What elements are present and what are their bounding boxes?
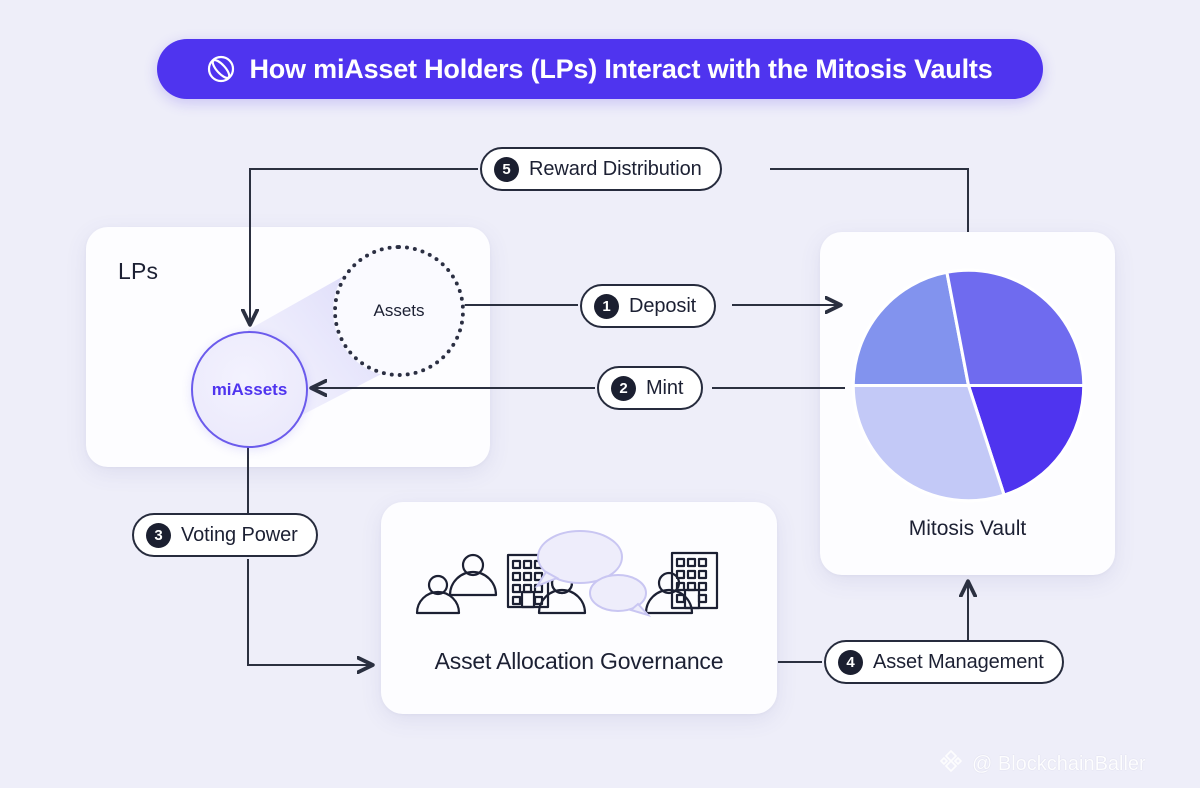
page-title-banner: How miAsset Holders (LPs) Interact with … <box>157 39 1043 99</box>
step-label: Mint <box>646 377 683 400</box>
step-pill-reward-distribution[interactable]: 5 Reward Distribution <box>480 147 722 191</box>
speech-bubble-icon <box>590 575 648 615</box>
step-label: Deposit <box>629 295 696 318</box>
step-label: Asset Management <box>873 651 1044 674</box>
miassets-node[interactable]: miAssets <box>191 331 308 448</box>
assets-node-label: Assets <box>373 301 424 321</box>
diagram-canvas: How miAsset Holders (LPs) Interact with … <box>0 0 1200 788</box>
mitosis-logo-icon <box>207 55 235 83</box>
vault-pie-chart <box>845 262 1092 509</box>
step-number-badge: 1 <box>594 294 619 319</box>
step-number-badge: 4 <box>838 650 863 675</box>
lps-card-label: LPs <box>118 258 158 285</box>
step-number-badge: 2 <box>611 376 636 401</box>
wire-voting-out <box>248 559 372 665</box>
step-label: Voting Power <box>181 524 298 547</box>
step-pill-deposit[interactable]: 1 Deposit <box>580 284 716 328</box>
pie-slice <box>947 270 1084 385</box>
step-number-badge: 3 <box>146 523 171 548</box>
page-title: How miAsset Holders (LPs) Interact with … <box>249 54 992 85</box>
step-pill-mint[interactable]: 2 Mint <box>597 366 703 410</box>
vault-card-label: Mitosis Vault <box>820 517 1115 541</box>
step-pill-asset-management[interactable]: 4 Asset Management <box>824 640 1064 684</box>
assets-node[interactable]: Assets <box>333 245 465 377</box>
watermark: @ BlockchainBaller <box>938 748 1146 780</box>
governance-illustration <box>405 520 755 640</box>
person-icon <box>450 555 496 595</box>
wire-reward-in <box>770 169 968 232</box>
miassets-node-label: miAssets <box>212 380 288 400</box>
watermark-handle: @ BlockchainBaller <box>972 753 1146 776</box>
step-pill-voting-power[interactable]: 3 Voting Power <box>132 513 318 557</box>
governance-card-label: Asset Allocation Governance <box>381 648 777 675</box>
step-label: Reward Distribution <box>529 158 702 181</box>
diamond-logo-icon <box>938 748 964 780</box>
step-number-badge: 5 <box>494 157 519 182</box>
